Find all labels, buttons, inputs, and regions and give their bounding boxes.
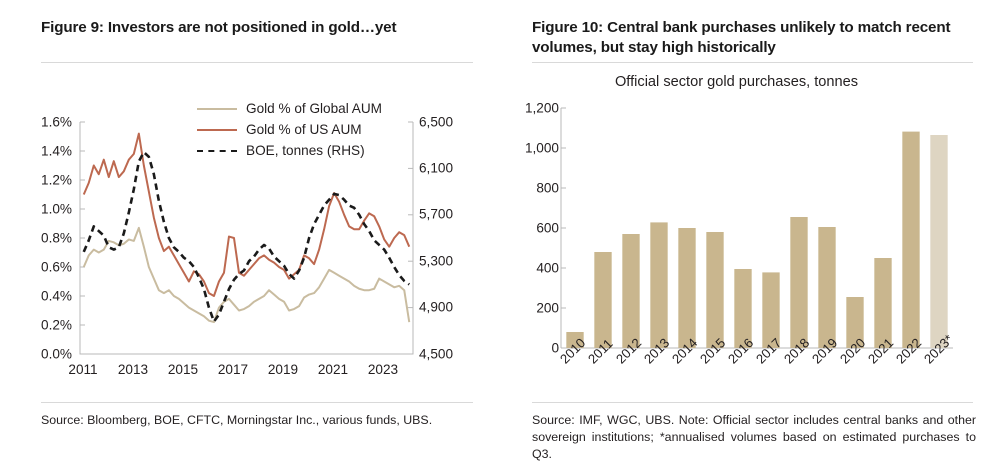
legend-label: Gold % of US AUM (246, 122, 362, 137)
x-tick: 2023* (921, 332, 956, 367)
x-tick: 2017 (218, 362, 248, 377)
figure-10-top-divider (532, 62, 973, 63)
figure-9-bottom-divider (41, 402, 473, 403)
figure-9-source: Source: Bloomberg, BOE, CFTC, Morningsta… (41, 412, 481, 429)
x-tick: 2014 (669, 335, 700, 366)
legend-dashed-line-icon (197, 150, 237, 152)
x-tick: 2019 (809, 335, 840, 366)
legend-item-us-aum: Gold % of US AUM (197, 119, 382, 140)
legend-label: BOE, tonnes (RHS) (246, 143, 365, 158)
x-tick: 2018 (781, 335, 812, 366)
x-tick: 2012 (613, 335, 644, 366)
x-tick: 2021 (865, 335, 896, 366)
x-tick: 2019 (268, 362, 298, 377)
legend-label: Gold % of Global AUM (246, 101, 382, 116)
x-tick: 2011 (68, 362, 97, 377)
legend-line-icon (197, 129, 237, 131)
x-tick: 2020 (837, 335, 868, 366)
x-tick: 2013 (118, 362, 148, 377)
x-tick: 2017 (753, 335, 784, 366)
x-tick: 2013 (641, 335, 672, 366)
x-tick: 2015 (168, 362, 198, 377)
x-tick: 2010 (557, 335, 588, 366)
figure-9-panel: Figure 9: Investors are not positioned i… (0, 0, 491, 473)
figure-10-source: Source: IMF, WGC, UBS. Note: Official se… (532, 412, 976, 463)
x-tick: 2022 (893, 335, 924, 366)
figure-9-legend: Gold % of Global AUM Gold % of US AUM BO… (197, 98, 382, 161)
x-tick: 2015 (697, 335, 728, 366)
figure-10-bottom-divider (532, 402, 973, 403)
x-tick: 2021 (318, 362, 348, 377)
legend-item-global-aum: Gold % of Global AUM (197, 98, 382, 119)
figure-9-title: Figure 9: Investors are not positioned i… (41, 18, 471, 38)
figure-10-panel: Figure 10: Central bank purchases unlike… (491, 0, 982, 473)
figure-10-chart: Official sector gold purchases, tonnes 1… (491, 70, 982, 390)
x-tick: 2023 (368, 362, 398, 377)
figure-10-title: Figure 10: Central bank purchases unlike… (532, 18, 973, 58)
x-tick: 2011 (585, 336, 616, 367)
legend-item-boe-tonnes: BOE, tonnes (RHS) (197, 140, 382, 161)
x-tick: 2016 (725, 335, 756, 366)
figure-9-top-divider (41, 62, 473, 63)
figure-9-chart: 1.6% 1.4% 1.2% 1.0% 0.8% 0.6% 0.4% 0.2% … (0, 70, 491, 390)
figure-10-x-axis-labels: 2010201120122013201420152016201720182019… (491, 70, 982, 390)
report-page: Figure 9: Investors are not positioned i… (0, 0, 982, 473)
legend-line-icon (197, 108, 237, 110)
